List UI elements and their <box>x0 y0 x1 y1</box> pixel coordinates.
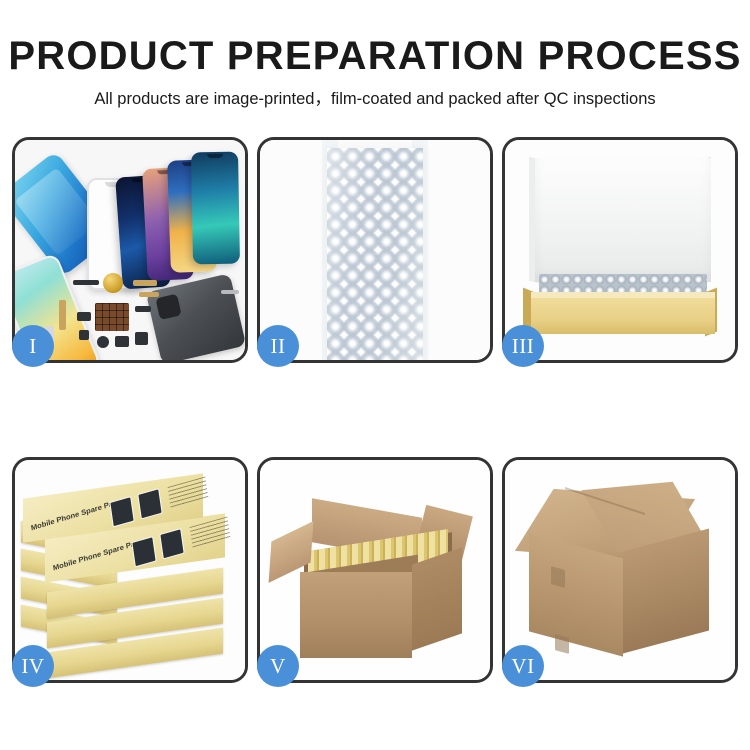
step-badge-6: VI <box>502 645 544 687</box>
flex-cable <box>133 280 157 286</box>
step-5-image-frame <box>260 460 490 680</box>
step-6-image-frame <box>505 460 735 680</box>
process-step-3: III <box>502 137 738 363</box>
phone-display-teal <box>191 152 240 265</box>
step-2-image-frame <box>260 140 490 360</box>
step-badge-4: IV <box>12 645 54 687</box>
process-step-5: V <box>257 457 493 683</box>
step-badge-3: III <box>502 325 544 367</box>
open-carton-with-boxes-photo <box>260 460 490 680</box>
open-kraft-box-with-wrapped-parts-photo <box>505 140 735 360</box>
small-part <box>135 332 148 345</box>
wrap-highlight <box>327 148 423 360</box>
printed-screen-image <box>159 528 184 559</box>
small-part <box>97 336 109 348</box>
box-front-panel <box>531 298 715 334</box>
flex-cable <box>139 292 159 297</box>
small-part <box>115 336 129 347</box>
small-part <box>73 280 99 285</box>
step-badge-1: I <box>12 325 54 367</box>
printed-screen-image <box>109 496 134 527</box>
bubble-wrap-sheet <box>327 148 423 360</box>
process-step-6: VI <box>502 457 738 683</box>
small-part <box>135 306 151 312</box>
step-badge-5: V <box>257 645 299 687</box>
carton-tab-lower <box>555 634 569 654</box>
sealed-shipping-carton-photo <box>505 460 735 680</box>
bubble-wrap-sheet-photo <box>260 140 490 360</box>
printed-screen-image <box>137 488 162 519</box>
gold-coil-part <box>103 273 123 293</box>
printed-spec-lines <box>168 476 209 508</box>
process-step-grid: I II <box>12 137 738 683</box>
flex-cable <box>59 300 66 330</box>
box-stack: Mobile Phone Spare Parts Mobile Phone Sp… <box>15 460 245 680</box>
stacked-retail-boxes-photo: Mobile Phone Spare Parts Mobile Phone Sp… <box>15 460 245 680</box>
step-3-image-frame <box>505 140 735 360</box>
process-step-2: II <box>257 137 493 363</box>
carton-side-panel <box>412 547 462 650</box>
small-part <box>221 290 239 294</box>
page-subtitle: All products are image-printed，film-coat… <box>0 79 750 109</box>
step-1-image-frame <box>15 140 245 360</box>
printed-spec-lines <box>190 516 231 548</box>
carton-right-face <box>623 528 709 653</box>
process-step-1: I <box>12 137 248 363</box>
small-part <box>79 330 89 340</box>
process-step-4: Mobile Phone Spare Parts Mobile Phone Sp… <box>12 457 248 683</box>
box-inner-lid <box>535 158 711 282</box>
step-4-image-frame: Mobile Phone Spare Parts Mobile Phone Sp… <box>15 460 245 680</box>
page-title: PRODUCT PREPARATION PROCESS <box>0 0 750 79</box>
phone-screens-and-spare-parts-photo <box>15 140 245 360</box>
step-badge-2: II <box>257 325 299 367</box>
chip-grid-part <box>95 303 129 331</box>
printed-screen-image <box>131 536 156 567</box>
small-part <box>77 312 91 321</box>
carton-front-panel <box>300 572 412 658</box>
carton-tab-upper <box>551 566 565 588</box>
page-header: PRODUCT PREPARATION PROCESS All products… <box>0 0 750 109</box>
